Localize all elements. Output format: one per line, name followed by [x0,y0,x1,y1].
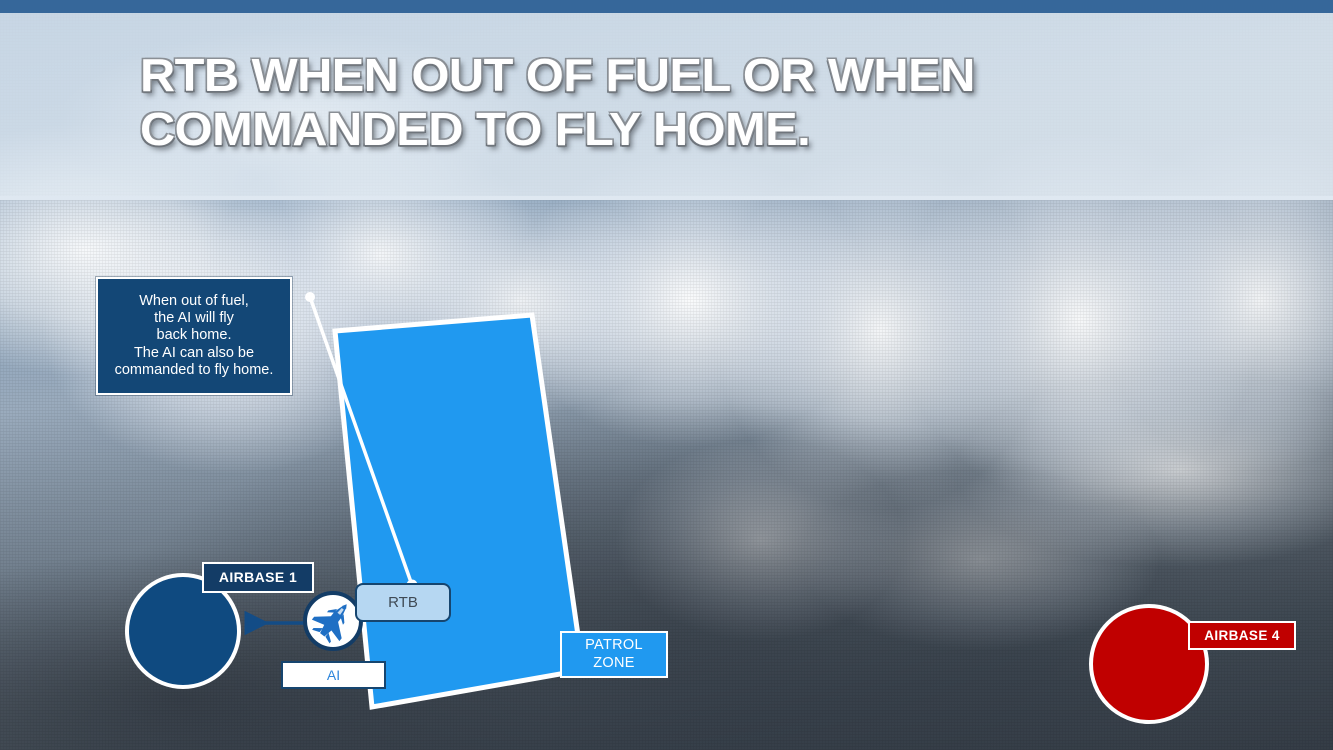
rtb-explanation-callout: When out of fuel, the AI will fly back h… [96,277,292,395]
slide-canvas: RTB WHEN OUT OF FUEL OR WHEN COMMANDED T… [0,0,1333,750]
slide-title: RTB WHEN OUT OF FUEL OR WHEN COMMANDED T… [140,48,1264,157]
airbase4-label[interactable]: AIRBASE 4 [1188,621,1296,650]
top-accent-strip [0,0,1333,13]
rtb-action-label[interactable]: RTB [355,583,451,622]
patrol-zone-label[interactable]: PATROL ZONE [560,631,668,678]
airbase1-label[interactable]: AIRBASE 1 [202,562,314,593]
ai-unit-label[interactable]: AI [281,661,386,689]
banner-bottom-rule [0,196,1333,200]
